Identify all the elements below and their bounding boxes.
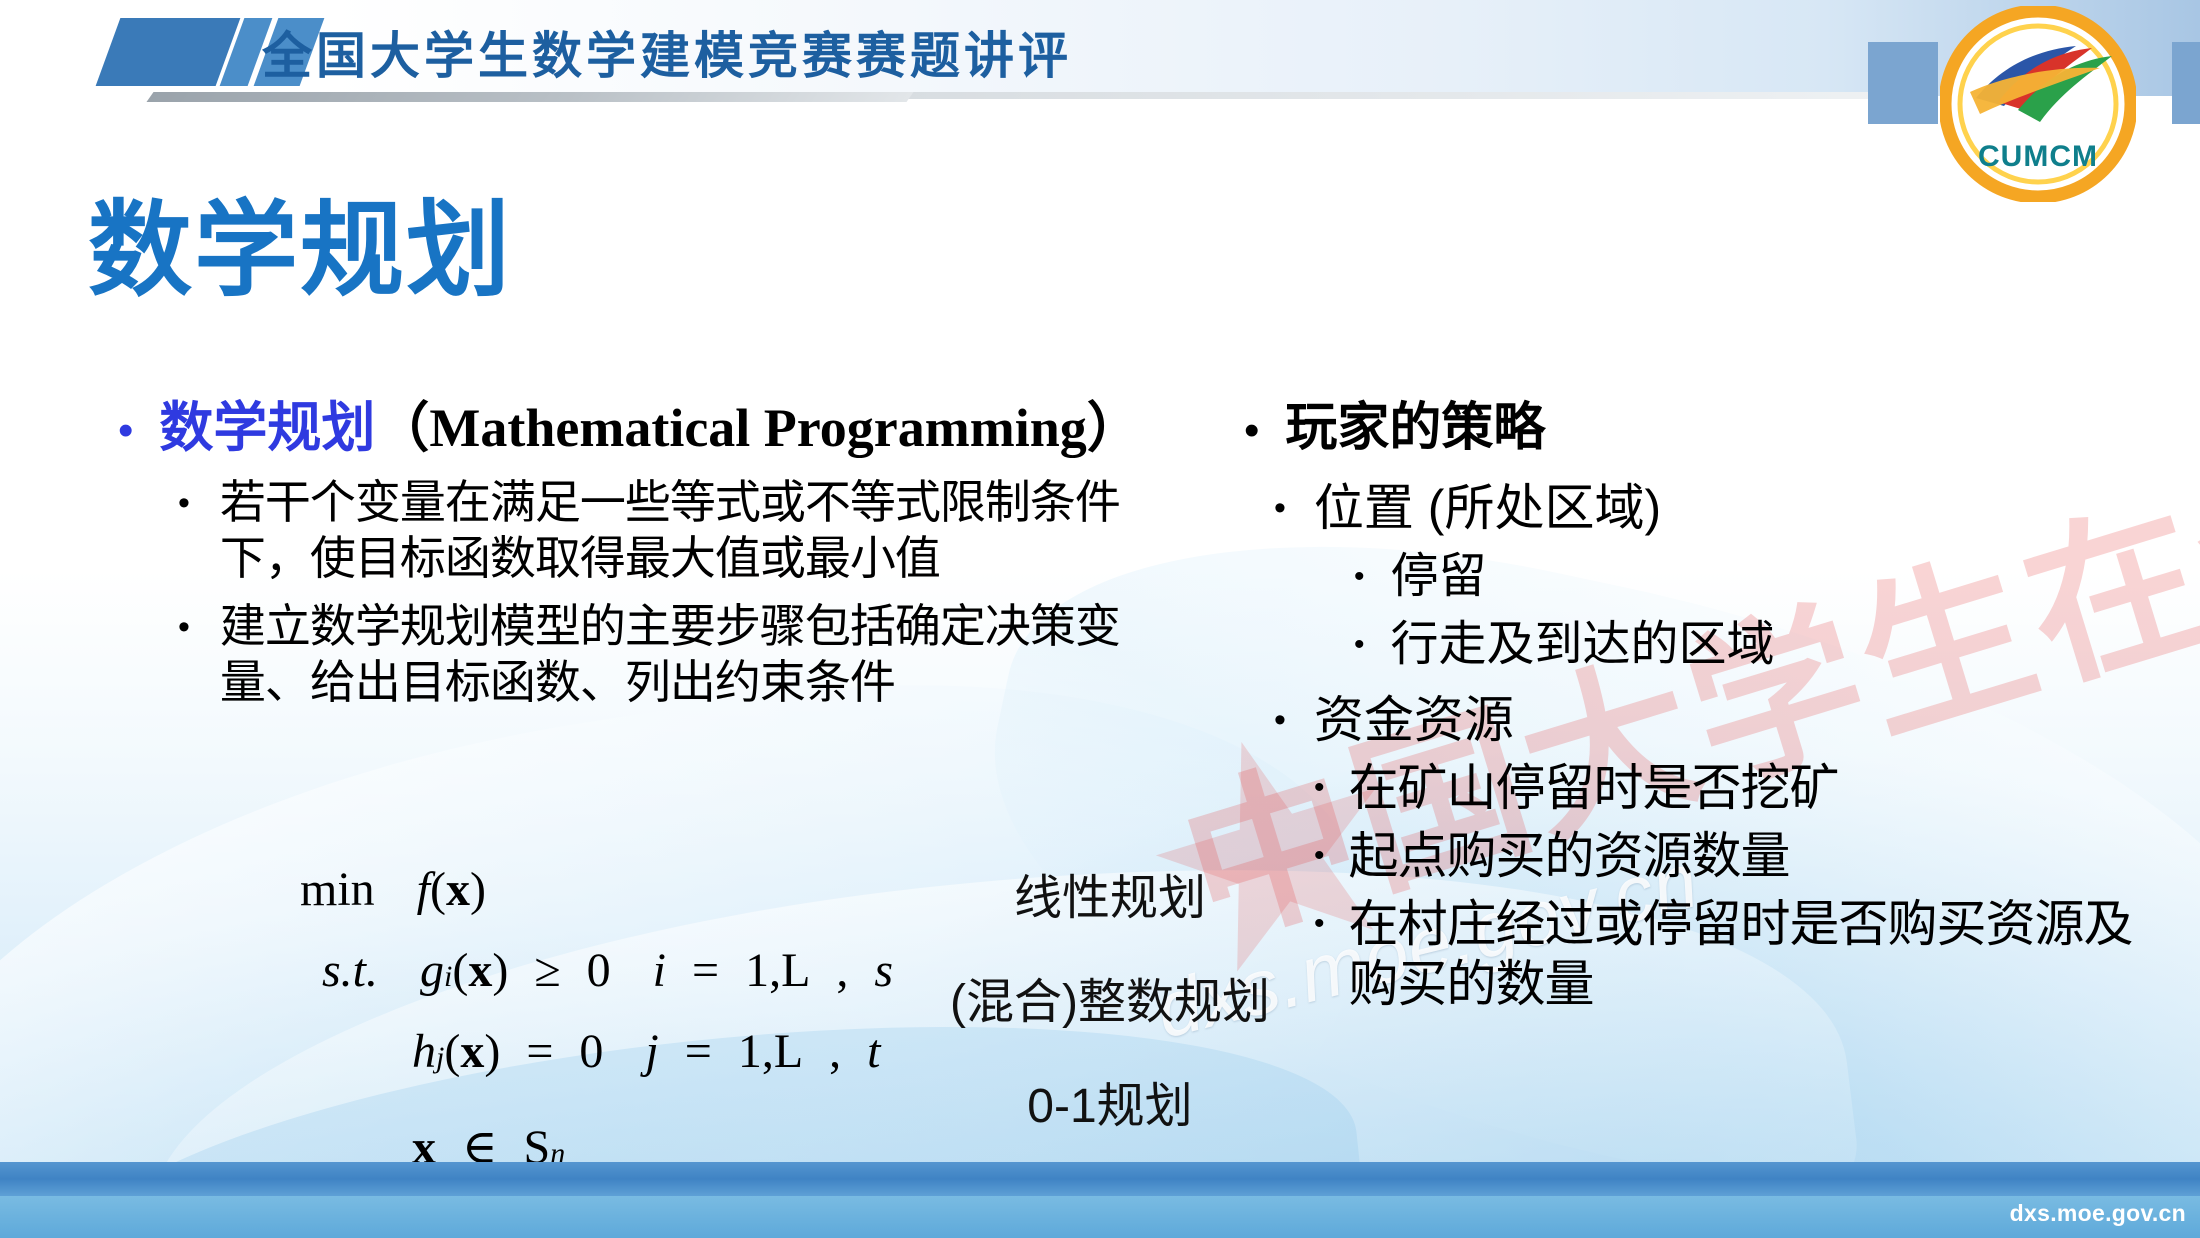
- page-title: 数学规划: [88, 165, 512, 316]
- math-limit-t: t: [867, 1024, 880, 1079]
- left-sub-bullet-1-text: 若干个变量在满足一些等式或不等式限制条件下，使目标函数取得最大值或最小值: [220, 474, 1168, 586]
- math-range-1L: 1,L: [738, 1024, 803, 1079]
- right-group-1-label-row: • 位置 (所处区域): [1244, 478, 2144, 538]
- math-g-subscript: i: [444, 960, 452, 994]
- math-zero: 0: [587, 943, 611, 998]
- header-title: 全国大学生数学建模竞赛赛题讲评: [262, 16, 1072, 88]
- header-rule-left: [146, 92, 913, 102]
- math-st-keyword: s.t.: [322, 943, 378, 998]
- math-index-j: j: [645, 1024, 658, 1079]
- math-f-symbol: f: [417, 862, 430, 917]
- right-group-2-item-1-text: 在矿山停留时是否挖矿: [1349, 758, 1839, 818]
- bullet-dot-icon: •: [1274, 478, 1286, 538]
- label-linear-programming: 线性规划: [930, 858, 1290, 928]
- bullet-dot-icon: •: [1314, 894, 1325, 954]
- label-mixed-integer-programming: (混合)整数规划: [930, 962, 1290, 1032]
- math-ge-operator: ≥: [534, 943, 560, 998]
- math-constraint-row-h: h j ( x ) = 0 j = 1,L , t: [412, 1024, 893, 1079]
- left-bullet-cn: 数学规划: [159, 398, 375, 458]
- programming-type-labels: 线性规划 (混合)整数规划 0-1规划: [930, 858, 1290, 1170]
- bullet-dot-icon: •: [1354, 548, 1365, 606]
- left-sub-bullet-1: • 若干个变量在满足一些等式或不等式限制条件下，使目标函数取得最大值或最小值: [118, 474, 1168, 586]
- math-min-keyword: min: [300, 862, 375, 917]
- right-group-1-item-2-text: 行走及到达的区域: [1391, 616, 1775, 674]
- math-equals: =: [526, 1024, 553, 1079]
- math-equals: =: [692, 943, 719, 998]
- left-bullet-level1: • 数学规划（Mathematical Programming）: [118, 396, 1168, 462]
- left-bullet-en: （Mathematical Programming）: [375, 398, 1140, 458]
- math-comma: ,: [829, 1024, 841, 1079]
- math-zero: 0: [579, 1024, 603, 1079]
- math-limit-s: s: [874, 943, 893, 998]
- left-sub-bullet-2-text: 建立数学规划模型的主要步骤包括确定决策变量、给出目标函数、列出约束条件: [220, 598, 1168, 710]
- right-group-2-item-2-text: 起点购买的资源数量: [1349, 826, 1790, 886]
- math-h-subscript: j: [436, 1041, 444, 1075]
- header-banner: 全国大学生数学建模竞赛赛题讲评: [0, 0, 2200, 108]
- math-equals: =: [685, 1024, 712, 1079]
- right-group-2-item-3: • 在村庄经过或停留时是否购买资源及购买的数量: [1244, 894, 2144, 1014]
- math-model-block: min f ( x ) s.t. g i ( x ) ≥ 0 i = 1,L: [300, 862, 893, 1175]
- footer-band-dark: [0, 1162, 2200, 1196]
- svg-text:CUMCM: CUMCM: [1978, 140, 2098, 173]
- right-bullet-level1-text: 玩家的策略: [1285, 396, 1545, 460]
- math-lparen: (: [430, 862, 446, 917]
- right-group-1-item-1-text: 停留: [1391, 548, 1487, 606]
- math-rparen: ): [470, 862, 486, 917]
- math-comma: ,: [836, 943, 848, 998]
- math-g-symbol: g: [420, 943, 444, 998]
- label-binary-programming: 0-1规划: [930, 1066, 1290, 1136]
- footer-url: dxs.moe.gov.cn: [2010, 1200, 2186, 1227]
- math-index-i: i: [653, 943, 666, 998]
- math-x-bold: x: [460, 1024, 484, 1079]
- slide-canvas: ★ 中国大学生在线 dxs.moe.gov.cn 全国大学生数学建模竞赛赛题讲评…: [0, 0, 2200, 1238]
- left-bullet-level1-text: 数学规划（Mathematical Programming）: [159, 396, 1140, 461]
- left-sub-bullet-2: • 建立数学规划模型的主要步骤包括确定决策变量、给出目标函数、列出约束条件: [118, 598, 1168, 710]
- right-content-column: • 玩家的策略 • 位置 (所处区域) • 停留 • 行走及到达的区域 • 资金…: [1244, 396, 2144, 1014]
- math-lparen: (: [444, 1024, 460, 1079]
- math-rparen: ): [484, 1024, 500, 1079]
- math-lparen: (: [452, 943, 468, 998]
- math-range-1L: 1,L: [745, 943, 810, 998]
- math-x-bold: x: [446, 862, 470, 917]
- right-group-2-item-2: • 起点购买的资源数量: [1244, 826, 2144, 886]
- right-group-1-item-2: • 行走及到达的区域: [1244, 616, 2144, 674]
- math-objective-row: min f ( x ): [300, 862, 893, 917]
- left-content-column: • 数学规划（Mathematical Programming） • 若干个变量…: [118, 396, 1168, 710]
- header-blue-square-right: [2172, 42, 2200, 124]
- bullet-dot-icon: •: [1314, 826, 1325, 886]
- math-constraint-row-g: s.t. g i ( x ) ≥ 0 i = 1,L , s: [322, 943, 893, 998]
- bullet-dot-icon: •: [178, 474, 190, 532]
- header-blue-square-left: [1868, 42, 1938, 124]
- right-group-2-item-3-text: 在村庄经过或停留时是否购买资源及购买的数量: [1349, 894, 2144, 1014]
- header-parallelogram-large: [96, 18, 241, 86]
- bullet-dot-icon: •: [1244, 396, 1259, 462]
- right-group-2-label-row: • 资金资源: [1244, 690, 2144, 750]
- bullet-dot-icon: •: [1314, 758, 1325, 818]
- bullet-dot-icon: •: [1274, 690, 1286, 750]
- right-group-2-label: 资金资源: [1314, 690, 1514, 750]
- right-group-1-item-1: • 停留: [1244, 548, 2144, 606]
- math-h-symbol: h: [412, 1024, 436, 1079]
- bullet-dot-icon: •: [1354, 616, 1365, 674]
- footer-band-light: [0, 1196, 2200, 1238]
- cumcm-logo-icon: CUMCM 中国大学生数学建模竞赛: [1940, 6, 2136, 202]
- header-rule-right: [900, 92, 1890, 99]
- right-bullet-level1: • 玩家的策略: [1244, 396, 2144, 462]
- right-group-2-item-1: • 在矿山停留时是否挖矿: [1244, 758, 2144, 818]
- math-x-bold: x: [468, 943, 492, 998]
- right-group-1-label: 位置 (所处区域): [1314, 478, 1661, 538]
- math-rparen: ): [492, 943, 508, 998]
- bullet-dot-icon: •: [178, 598, 190, 656]
- bullet-dot-icon: •: [118, 396, 133, 462]
